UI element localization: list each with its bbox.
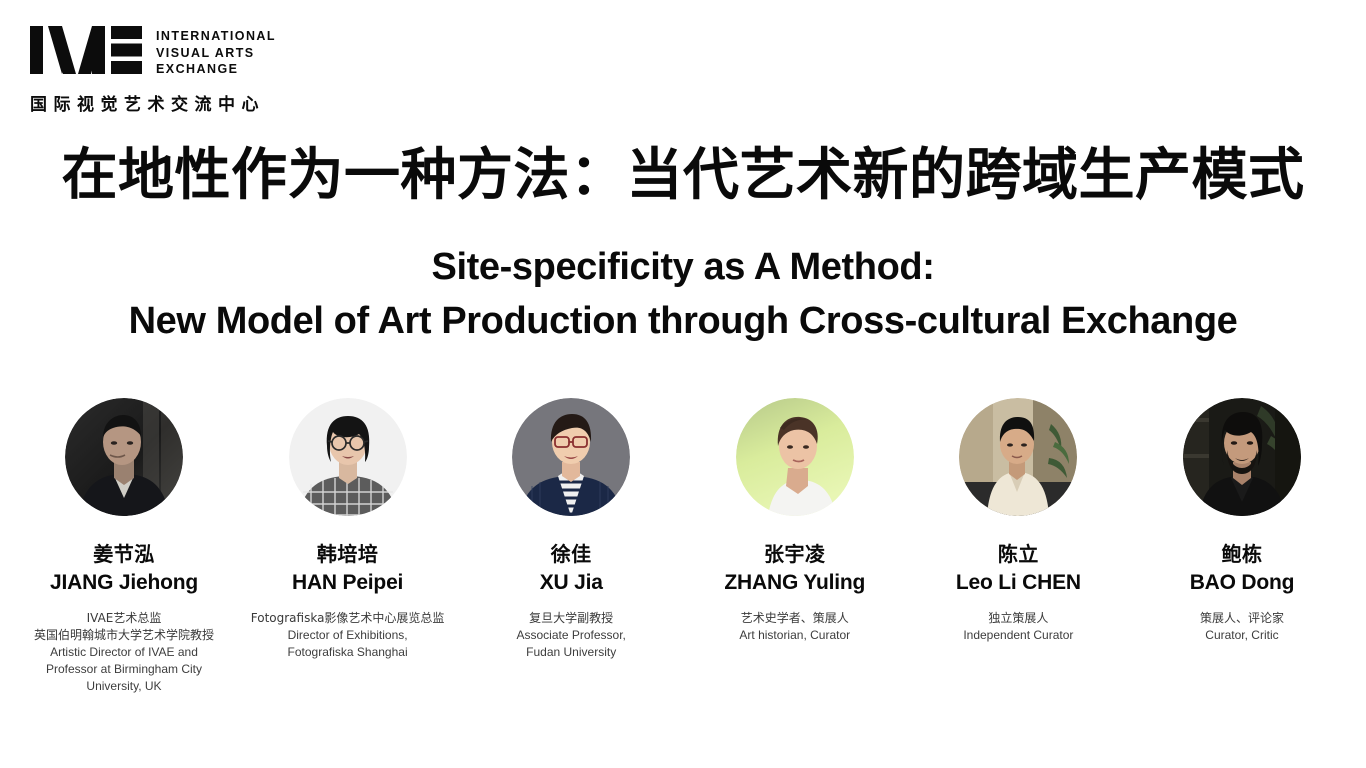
avatar [736,398,854,516]
speaker-name-cn: 韩培培 [317,542,379,567]
speaker-role-en-line: Curator, Critic [1200,627,1284,644]
speaker-list: 姜节泓 JIANG Jiehong IVAE艺术总监 英国伯明翰城市大学艺术学院… [18,398,1348,695]
logo-line-2: VISUAL ARTS [156,45,276,62]
speaker-role-en-line: University, UK [34,678,214,695]
speaker-name-en: XU Jia [540,570,603,596]
speaker-role-cn-line: IVAE艺术总监 [34,610,214,627]
speaker-name-en: HAN Peipei [292,570,403,596]
speaker-name-cn: 徐佳 [551,542,592,567]
speaker-name-cn: 姜节泓 [93,542,155,567]
speaker-name-en: JIANG Jiehong [50,570,198,596]
logo-wordmark: INTERNATIONAL VISUAL ARTS EXCHANGE [156,26,276,78]
ivae-logo: INTERNATIONAL VISUAL ARTS EXCHANGE 国际视觉艺… [30,26,330,115]
speaker-name-en: Leo Li CHEN [956,570,1081,596]
speaker-role-en-line: Independent Curator [963,627,1073,644]
speaker-role-en-line: Professor at Birmingham City [34,661,214,678]
speaker-role: 复旦大学副教授 Associate Professor, Fudan Unive… [516,610,625,661]
speaker-role-en-line: Associate Professor, [516,627,625,644]
speaker-role: Fotografiska影像艺术中心展览总监 Director of Exhib… [251,610,445,661]
speaker-role-en-line: Artistic Director of IVAE and [34,644,214,661]
speaker-role: 独立策展人 Independent Curator [963,610,1073,644]
speaker-role-cn-line: 复旦大学副教授 [516,610,625,627]
speaker-name-cn: 张宇凌 [764,542,826,567]
speaker-card[interactable]: 徐佳 XU Jia 复旦大学副教授 Associate Professor, F… [465,398,677,661]
speaker-name-en: BAO Dong [1190,570,1295,596]
avatar [959,398,1077,516]
page-title-chinese: 在地性作为一种方法：当代艺术新的跨域生产模式 [0,143,1366,209]
speaker-name-en: ZHANG Yuling [724,570,865,596]
speaker-name-cn: 陈立 [998,542,1039,567]
speaker-card[interactable]: 张宇凌 ZHANG Yuling 艺术史学者、策展人 Art historian… [689,398,901,644]
page-subtitle-line-2: New Model of Art Production through Cros… [0,294,1366,348]
speaker-card[interactable]: 姜节泓 JIANG Jiehong IVAE艺术总监 英国伯明翰城市大学艺术学院… [18,398,230,695]
speaker-role-cn-line: 英国伯明翰城市大学艺术学院教授 [34,627,214,644]
logo-line-1: INTERNATIONAL [156,28,276,45]
speaker-role-cn-line: 艺术史学者、策展人 [739,610,850,627]
speaker-card[interactable]: 鲍栋 BAO Dong 策展人、评论家 Curator, Critic [1136,398,1348,644]
speaker-role: 艺术史学者、策展人 Art historian, Curator [739,610,850,644]
avatar [1183,398,1301,516]
avatar [65,398,183,516]
speaker-role-en-line: Fudan University [516,644,625,661]
speaker-role-en-line: Fotografiska Shanghai [251,644,445,661]
page-title-english: Site-specificity as A Method: New Model … [0,240,1366,348]
logo-line-3: EXCHANGE [156,61,276,78]
page-subtitle-line-1: Site-specificity as A Method: [0,240,1366,294]
logo-chinese-name: 国际视觉艺术交流中心 [30,90,330,115]
speaker-name-cn: 鲍栋 [1221,542,1262,567]
speaker-role-cn-line: 策展人、评论家 [1200,610,1284,627]
avatar [289,398,407,516]
speaker-card[interactable]: 韩培培 HAN Peipei Fotografiska影像艺术中心展览总监 Di… [242,398,454,661]
speaker-role-en-line: Director of Exhibitions, [251,627,445,644]
speaker-role-en-line: Art historian, Curator [739,627,850,644]
speaker-role-cn-line: Fotografiska影像艺术中心展览总监 [251,610,445,627]
speaker-role: IVAE艺术总监 英国伯明翰城市大学艺术学院教授 Artistic Direct… [34,610,214,695]
logo-top-row: INTERNATIONAL VISUAL ARTS EXCHANGE [30,26,330,79]
ivae-logomark-icon [30,26,142,79]
speaker-card[interactable]: 陈立 Leo Li CHEN 独立策展人 Independent Curator [912,398,1124,644]
speaker-role: 策展人、评论家 Curator, Critic [1200,610,1284,644]
avatar [512,398,630,516]
speaker-role-cn-line: 独立策展人 [963,610,1073,627]
